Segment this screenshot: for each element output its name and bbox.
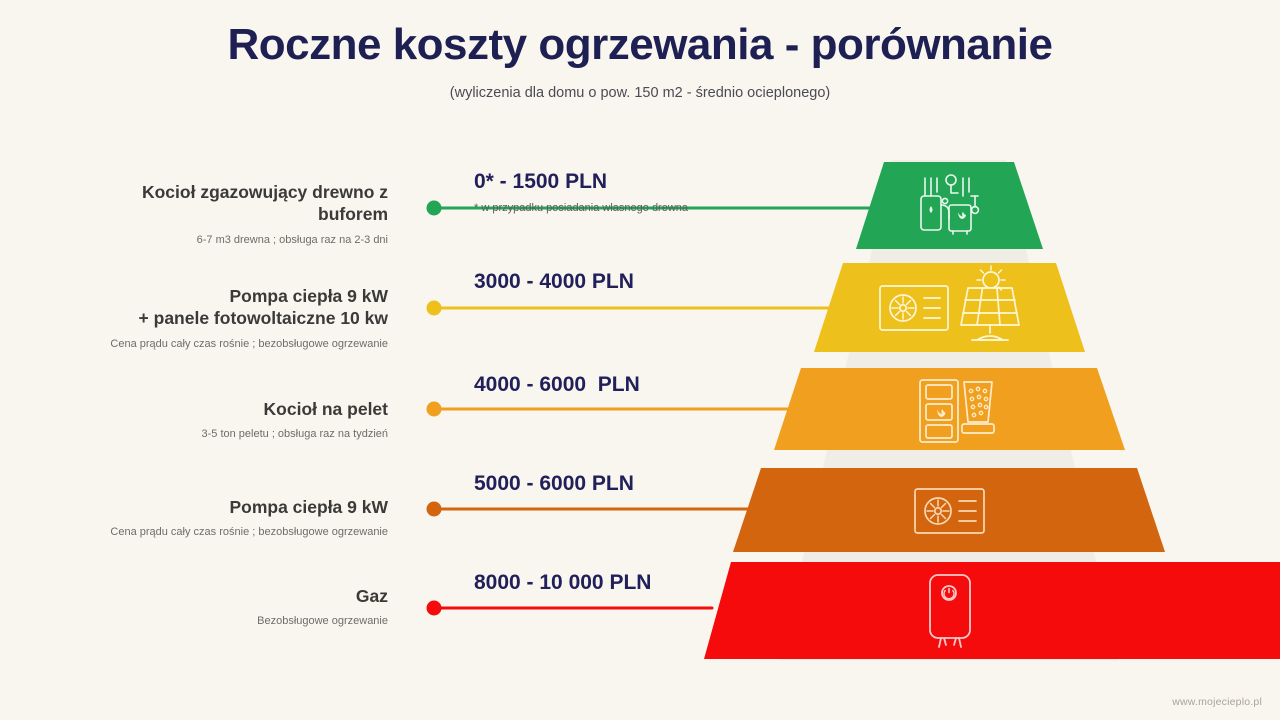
- connector-dot-2: [427, 301, 442, 316]
- row-name: Kocioł zgazowujący drewno z buforem: [68, 181, 388, 226]
- connector-lines: [427, 201, 873, 616]
- pyramid-layer-gas[interactable]: [704, 562, 1280, 659]
- page-subtitle: (wyliczenia dla domu o pow. 150 m2 - śre…: [0, 85, 1280, 101]
- price-block-kociol-zgazowujacy: 0* - 1500 PLN * w przypadku posiadania w…: [474, 170, 688, 214]
- price-value: 0* - 1500 PLN: [474, 170, 688, 193]
- connector-dot-1: [427, 201, 442, 216]
- row-subtext: Cena prądu cały czas rośnie ; bezobsługo…: [68, 337, 388, 351]
- connector-dot-3: [427, 402, 442, 417]
- row-label-kociol-na-pelet: Kocioł na pelet 3-5 ton peletu ; obsługa…: [68, 398, 388, 442]
- price-block-kociol-na-pelet: 4000 - 6000 PLN: [474, 373, 640, 396]
- row-name: Pompa ciepła 9 kW + panele fotowoltaiczn…: [68, 285, 388, 330]
- wood-gasification-boiler-icon: [921, 175, 978, 234]
- price-block-pompa-ciepla: 5000 - 6000 PLN: [474, 472, 634, 495]
- row-subtext: 3-5 ton peletu ; obsługa raz na tydzień: [68, 427, 388, 441]
- row-name: Pompa ciepła 9 kW: [68, 496, 388, 518]
- row-name: Gaz: [68, 585, 388, 607]
- website-credit: www.mojecieplo.pl: [1172, 696, 1262, 708]
- price-block-pompa-ciepla-pv: 3000 - 4000 PLN: [474, 270, 634, 293]
- price-block-gaz: 8000 - 10 000 PLN: [474, 571, 651, 594]
- connector-dot-4: [427, 502, 442, 517]
- row-label-kociol-zgazowujacy: Kocioł zgazowujący drewno z buforem 6-7 …: [68, 181, 388, 247]
- heat-pump-solar-panel-icon: [880, 266, 1019, 340]
- pyramid-layer-heat-pump[interactable]: [733, 468, 1165, 552]
- pyramid-layer-pellet-boiler[interactable]: [774, 368, 1125, 450]
- infographic-canvas: Roczne koszty ogrzewania - porównanie (w…: [0, 0, 1280, 720]
- price-value: 4000 - 6000 PLN: [474, 373, 640, 396]
- pyramid-shadow: [780, 160, 1118, 660]
- pyramid-layer-wood-gasification-boiler[interactable]: [856, 162, 1043, 249]
- row-label-gaz: Gaz Bezobsługowe ogrzewanie: [68, 585, 388, 629]
- price-note: * w przypadku posiadania własnego drewna: [474, 202, 688, 214]
- row-name: Kocioł na pelet: [68, 398, 388, 420]
- connector-dot-5: [427, 601, 442, 616]
- price-value: 3000 - 4000 PLN: [474, 270, 634, 293]
- gas-boiler-icon: [930, 575, 970, 647]
- pyramid-layer-heat-pump-pv[interactable]: [814, 263, 1085, 352]
- row-subtext: Cena prądu cały czas rośnie ; bezobsługo…: [68, 525, 388, 539]
- row-subtext: 6-7 m3 drewna ; obsługa raz na 2-3 dni: [68, 233, 388, 247]
- pellet-boiler-icon: [920, 380, 994, 442]
- price-value: 5000 - 6000 PLN: [474, 472, 634, 495]
- page-title: Roczne koszty ogrzewania - porównanie: [0, 20, 1280, 71]
- price-value: 8000 - 10 000 PLN: [474, 571, 651, 594]
- heat-pump-icon: [915, 489, 984, 533]
- row-label-pompa-ciepla-pv: Pompa ciepła 9 kW + panele fotowoltaiczn…: [68, 285, 388, 351]
- row-label-pompa-ciepla: Pompa ciepła 9 kW Cena prądu cały czas r…: [68, 496, 388, 540]
- row-subtext: Bezobsługowe ogrzewanie: [68, 614, 388, 628]
